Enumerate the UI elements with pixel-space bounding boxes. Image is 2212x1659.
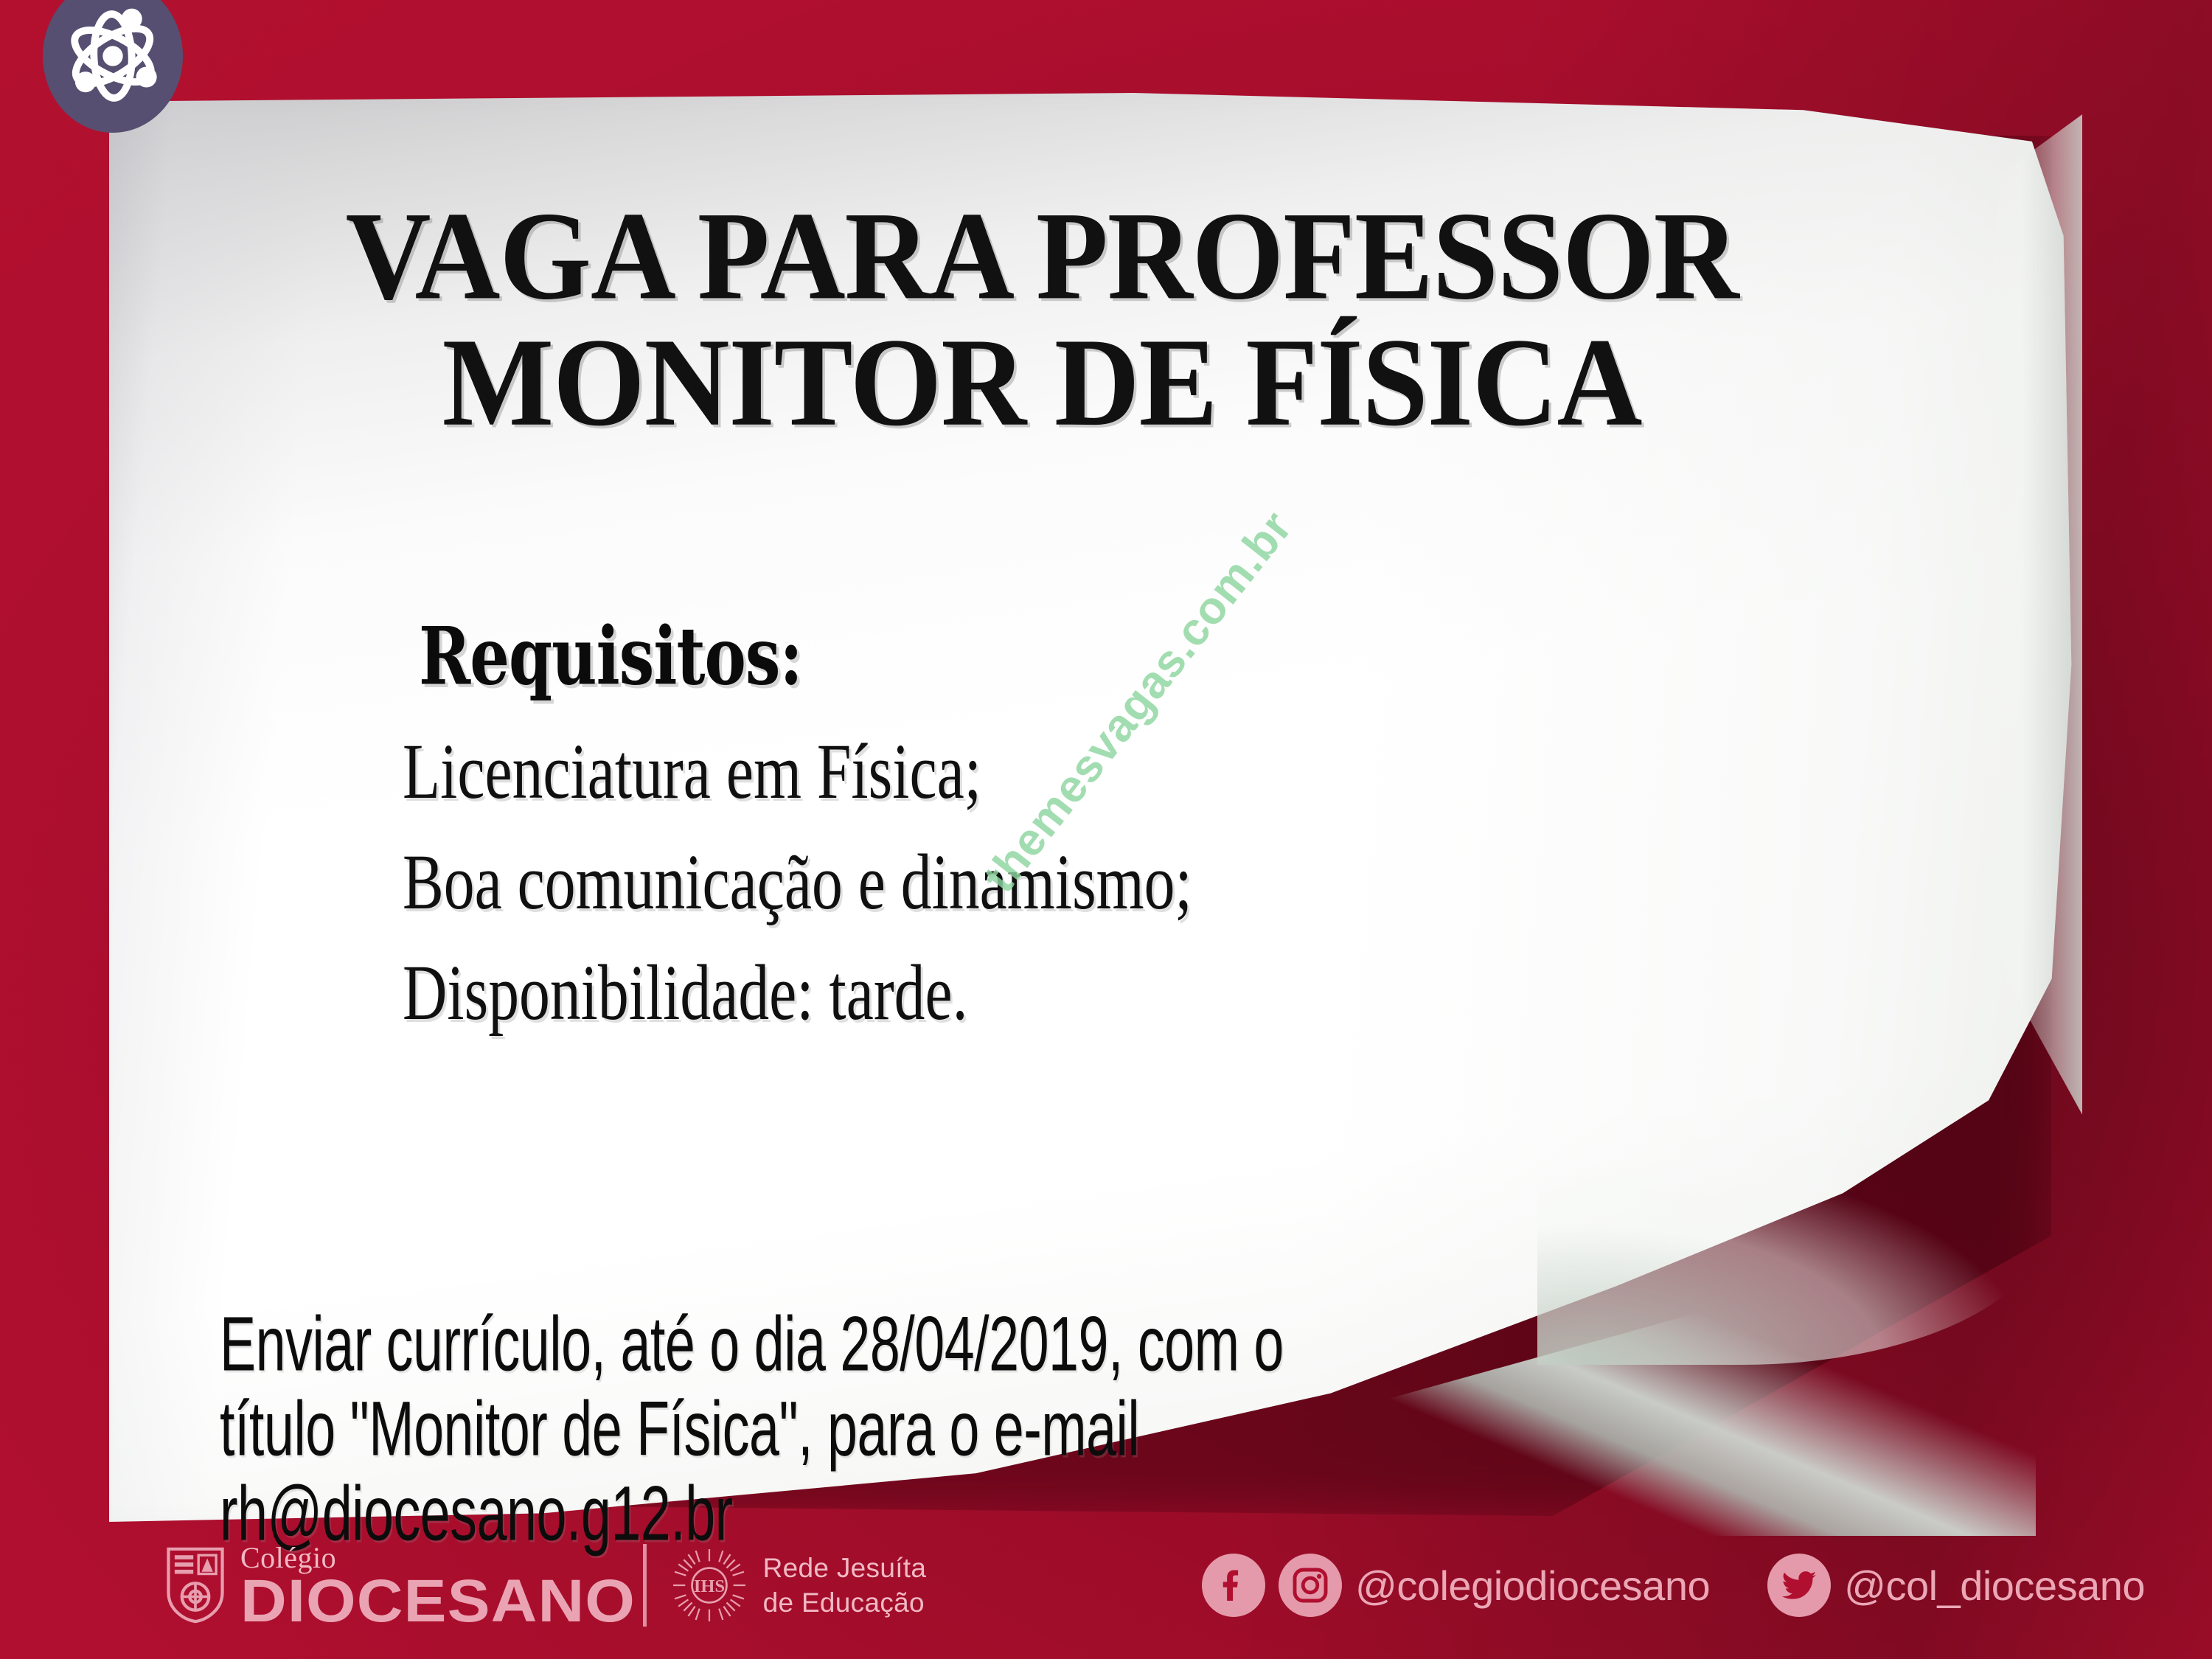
apply-line-1: Enviar currículo, até o dia 28/04/2019, … [220,1305,1284,1382]
footer-divider [643,1544,647,1627]
twitter-icon[interactable] [1767,1554,1831,1617]
instagram-glyph [1290,1565,1331,1606]
poster-content: VAGA PARA PROFESSOR MONITOR DE FÍSICA Re… [109,93,2079,1522]
jesuit-text: Rede Jesuíta de Educação [763,1551,927,1621]
brand-text: Colégio DIOCESANO [240,1543,613,1628]
list-item: Boa comunicação e dinamismo; [403,844,1192,922]
jesuit-line-1: Rede Jesuíta [763,1551,927,1585]
facebook-icon[interactable] [1202,1554,1265,1617]
brand-diocesano-label: DIOCESANO [240,1576,636,1628]
footer-bar: Colégio DIOCESANO [0,1522,2212,1659]
twitter-glyph [1778,1565,1820,1606]
atom-glyph [43,0,183,133]
list-item: Disponibilidade: tarde. [403,954,1192,1033]
paper-sheet: VAGA PARA PROFESSOR MONITOR DE FÍSICA Re… [109,93,2079,1522]
svg-text:IHS: IHS [694,1576,725,1596]
poster-canvas: VAGA PARA PROFESSOR MONITOR DE FÍSICA Re… [0,0,2212,1659]
ihs-sunburst-icon: IHS [672,1548,747,1623]
page-title: VAGA PARA PROFESSOR MONITOR DE FÍSICA [63,193,2021,446]
headline-line-2: MONITOR DE FÍSICA [63,319,2021,445]
list-item: Licenciatura em Física; [403,733,1192,812]
requirements-list: Licenciatura em Física; Boa comunicação … [403,742,1177,1074]
instagram-icon[interactable] [1279,1554,1342,1617]
jesuit-lockup: IHS Rede Jesuíta de Educação [672,1548,927,1623]
social-links: @colegiodiocesano @col_diocesano [1202,1541,2145,1630]
twitter-handle[interactable]: @col_diocesano [1844,1562,2145,1610]
atom-icon [43,0,183,133]
jesuit-line-2: de Educação [763,1585,927,1620]
requirements-heading: Requisitos: [419,609,802,703]
diocesano-shield-icon [164,1547,227,1624]
brand-lockup: Colégio DIOCESANO [164,1537,926,1634]
facebook-glyph [1213,1565,1254,1606]
headline-line-1: VAGA PARA PROFESSOR [63,193,2021,319]
apply-line-2: título "Monitor de Física", para o e-mai… [220,1390,1284,1467]
instagram-handle[interactable]: @colegiodiocesano [1355,1562,1710,1610]
